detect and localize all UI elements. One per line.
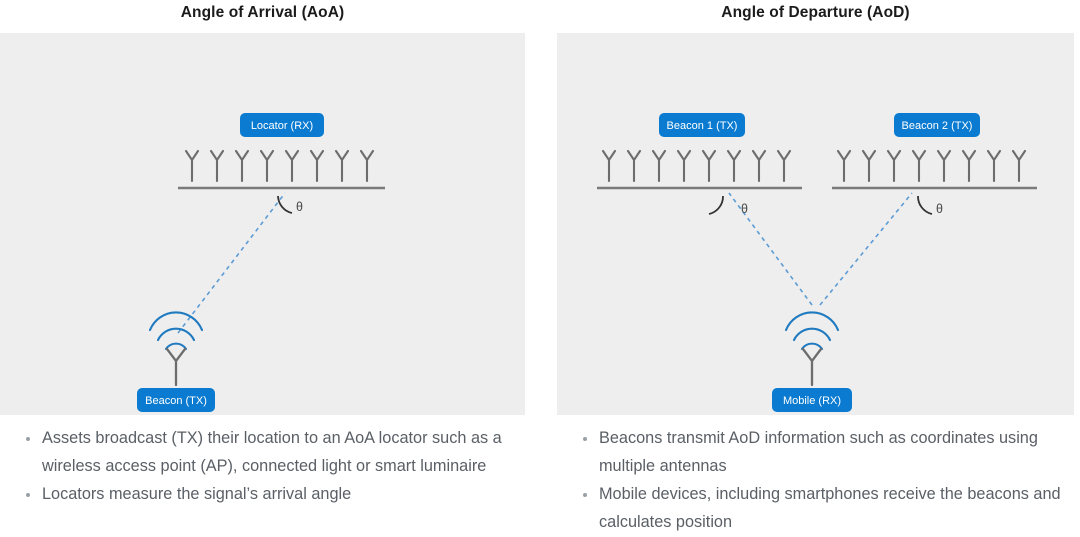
antenna-element (888, 151, 900, 181)
antenna-element (236, 151, 248, 181)
antenna-element (653, 151, 665, 181)
badge-beacon-tx[interactable]: Beacon (TX) (137, 388, 215, 412)
antenna-element (913, 151, 925, 181)
antenna-array-beacon-2 (838, 151, 1025, 181)
antenna-element (603, 151, 615, 181)
badge-beacon-1-tx[interactable]: Beacon 1 (TX) (659, 113, 745, 137)
antenna-element (678, 151, 690, 181)
panel-angle-of-arrival: Angle of Arrival (AoA) (0, 0, 525, 510)
antenna-element (286, 151, 298, 181)
signal-wave-arcs (150, 312, 202, 349)
bullet-list-aoa: Assets broadcast (TX) their location to … (0, 415, 525, 509)
angle-arc-left (709, 196, 723, 214)
antenna-element (211, 151, 223, 181)
antenna-beacon (167, 349, 185, 385)
antenna-mobile (803, 349, 821, 385)
antenna-array-beacon-1 (603, 151, 790, 181)
antenna-element (863, 151, 875, 181)
badge-mobile-rx[interactable]: Mobile (RX) (772, 388, 852, 412)
antenna-array-locator (186, 151, 373, 181)
antenna-element (778, 151, 790, 181)
badge-beacon-2-tx[interactable]: Beacon 2 (TX) (894, 113, 980, 137)
angle-theta-label-left: θ (741, 202, 748, 216)
aoa-aod-comparison-board: Angle of Arrival (AoA) (0, 0, 1080, 528)
angle-theta-label-right: θ (936, 202, 943, 216)
badge-beacon-tx-label: Beacon (TX) (145, 395, 207, 407)
badge-beacon-1-tx-label: Beacon 1 (TX) (667, 120, 738, 132)
bullet-list-aod: Beacons transmit AoD information such as… (557, 415, 1074, 536)
list-item: Beacons transmit AoD information such as… (581, 425, 1068, 480)
badge-locator-rx-label: Locator (RX) (251, 120, 313, 132)
panel-angle-of-departure: Angle of Departure (AoD) (557, 0, 1074, 537)
angle-arc-right (918, 196, 932, 214)
antenna-element (988, 151, 1000, 181)
dashed-signal-path-right (820, 193, 912, 305)
angle-theta-label: θ (296, 200, 303, 214)
antenna-element (261, 151, 273, 181)
badge-beacon-2-tx-label: Beacon 2 (TX) (902, 120, 973, 132)
badge-mobile-rx-label: Mobile (RX) (783, 395, 841, 407)
antenna-element (963, 151, 975, 181)
signal-wave-arcs (786, 312, 838, 349)
page-title-aoa: Angle of Arrival (AoA) (0, 0, 525, 33)
antenna-element (311, 151, 323, 181)
antenna-element (1013, 151, 1025, 181)
page-title-aod: Angle of Departure (AoD) (557, 0, 1074, 33)
antenna-element (186, 151, 198, 181)
antenna-element (628, 151, 640, 181)
antenna-element (336, 151, 348, 181)
antenna-element (703, 151, 715, 181)
antenna-element (753, 151, 765, 181)
antenna-element (728, 151, 740, 181)
diagram-aod: Beacon 1 (TX) Beacon 2 (TX) Mobile (RX) … (557, 33, 1074, 415)
antenna-element (838, 151, 850, 181)
dashed-signal-path (178, 193, 285, 333)
antenna-element (361, 151, 373, 181)
badge-locator-rx[interactable]: Locator (RX) (240, 113, 324, 137)
diagram-aoa: Locator (RX) Beacon (TX) θ (0, 33, 525, 415)
list-item: Assets broadcast (TX) their location to … (24, 425, 519, 480)
list-item: Locators measure the signal’s arrival an… (24, 481, 519, 509)
antenna-element (938, 151, 950, 181)
